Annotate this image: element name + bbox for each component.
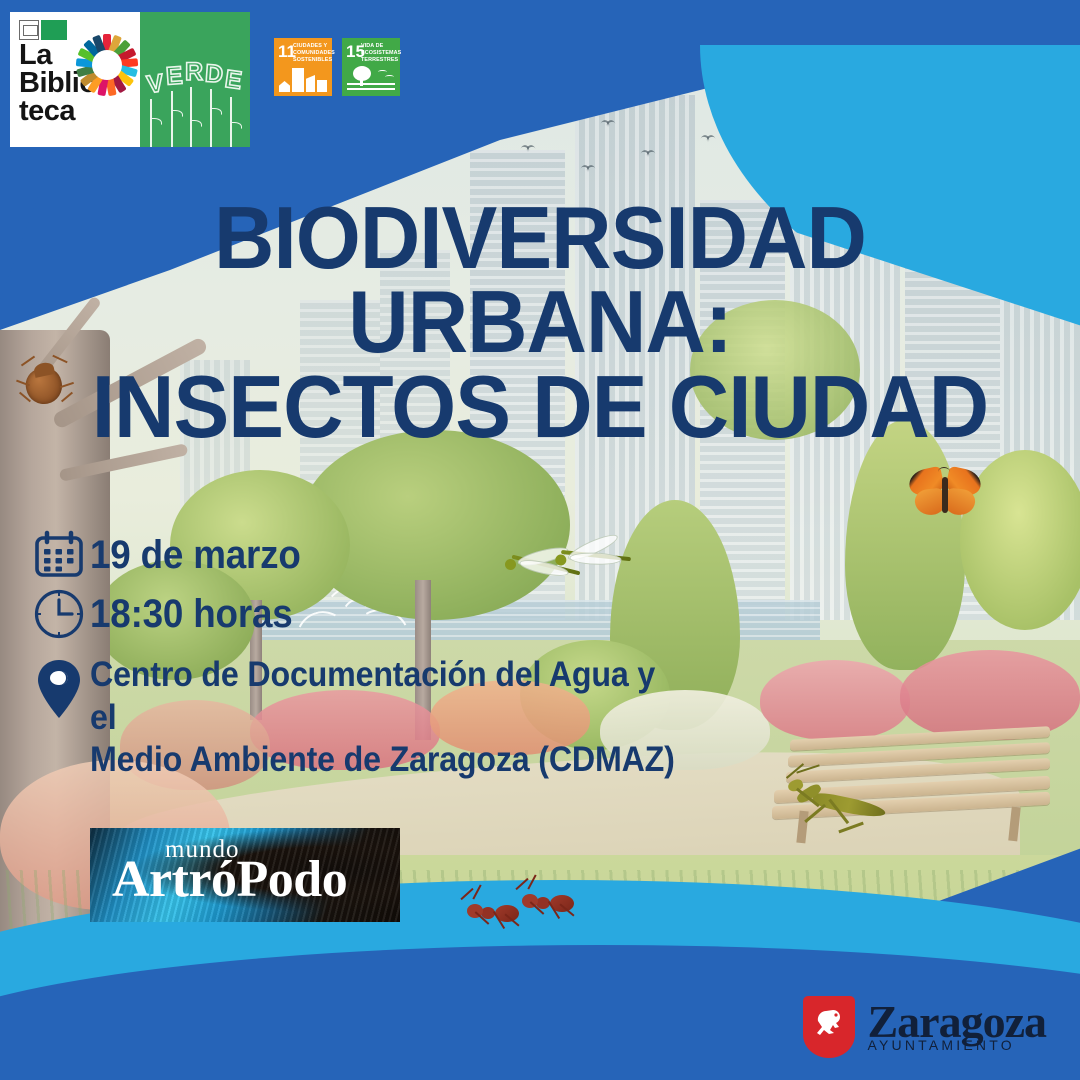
bird-icon [600, 120, 616, 128]
lion-shield-icon [803, 996, 855, 1058]
calendar-icon [28, 530, 90, 580]
bird-icon [520, 145, 536, 153]
praying-mantis-icon [780, 770, 900, 845]
ant-icon [510, 885, 580, 919]
venue-line-2: Medio Ambiente de Zaragoza (CDMAZ) [90, 740, 675, 779]
library-network-icon [19, 20, 67, 40]
biblioteca-line3: teca [19, 97, 97, 125]
tree-birds-icon [347, 66, 395, 92]
header-logos: La Biblio teca V E R D E [10, 12, 400, 147]
sdg-badge-15: 15 VIDA DE ECOSISTEMAS TERRESTRES [342, 38, 400, 96]
detail-row-date: 19 de marzo [28, 530, 728, 580]
city-buildings-icon [279, 66, 327, 92]
clock-icon [28, 588, 90, 640]
artropodo-name: ArtróPodo [112, 854, 347, 906]
verde-wordmark: V E R D E [147, 56, 247, 102]
sdg-wheel-segment [76, 58, 97, 68]
sdg-badge-11: 11 CIUDADES Y COMUNIDADES SOSTENIBLES [274, 38, 332, 96]
butterfly-icon [905, 465, 985, 523]
title-line-1: BIODIVERSIDAD URBANA: [214, 188, 866, 371]
event-details: 19 de marzo 18:30 horas [28, 530, 728, 790]
bird-icon [640, 150, 656, 158]
event-venue: Centro de Documentación del Agua y el Me… [90, 654, 677, 782]
zaragoza-wordmark-block: Zaragoza AYUNTAMIENTO [867, 1001, 1046, 1052]
mundo-artropodo-logo: mundo ArtróPodo [90, 828, 400, 922]
bird-icon [580, 165, 596, 173]
zaragoza-footer-logo: Zaragoza AYUNTAMIENTO [803, 996, 1046, 1058]
poster: La Biblio teca V E R D E [0, 0, 1080, 1080]
la-biblioteca-logo: La Biblio teca [10, 12, 140, 147]
poster-title: BIODIVERSIDAD URBANA: INSECTOS DE CIUDAD [27, 196, 1053, 449]
title-line-2: INSECTOS DE CIUDAD [27, 365, 1053, 449]
verde-logo: V E R D E [140, 12, 250, 147]
venue-line-1: Centro de Documentación del Agua y el [90, 655, 655, 737]
event-time: 18:30 horas [90, 592, 293, 637]
bird-icon [700, 135, 716, 143]
sdg-color-wheel-icon [76, 34, 138, 96]
sdg-15-label: VIDA DE ECOSISTEMAS TERRESTRES [361, 43, 398, 63]
detail-row-time: 18:30 horas [28, 588, 728, 640]
detail-row-venue: Centro de Documentación del Agua y el Me… [28, 654, 728, 782]
location-pin-icon [28, 654, 90, 720]
event-date: 19 de marzo [90, 533, 301, 578]
sdg-11-label: CIUDADES Y COMUNIDADES SOSTENIBLES [293, 43, 330, 63]
